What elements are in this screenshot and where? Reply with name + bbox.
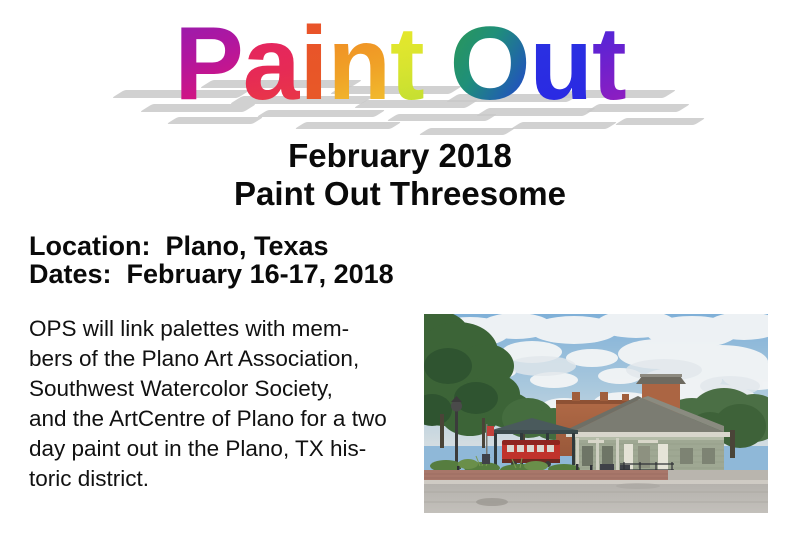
logo-letter-a: a: [243, 4, 300, 124]
body-line: Southwest Watercolor Society,: [29, 374, 411, 404]
logo-letter-P: P: [174, 4, 242, 124]
body-line: toric district.: [29, 464, 411, 494]
logo-letter-t2: t: [592, 4, 626, 124]
historic-district-photo: [424, 314, 768, 513]
logo-letter-O: O: [450, 4, 530, 124]
detail-dates: Dates: February 16-17, 2018: [29, 258, 394, 291]
logo-wordmark: PaintOut: [0, 4, 800, 124]
logo-letter-i: i: [300, 4, 328, 124]
headline-month: February 2018: [0, 136, 800, 175]
body-line: bers of the Plano Art Association,: [29, 344, 411, 374]
body-paragraph: OPS will link palettes with mem- bers of…: [29, 314, 411, 494]
body-line: day paint out in the Plano, TX his-: [29, 434, 411, 464]
logo-letter-u: u: [530, 4, 593, 124]
body-line: and the ArtCentre of Plano for a two: [29, 404, 411, 434]
headline-event-title: Paint Out Threesome: [0, 174, 800, 213]
paint-out-logo: PaintOut: [0, 4, 800, 134]
body-line: OPS will link palettes with mem-: [29, 314, 411, 344]
photo-artwork: [424, 314, 768, 513]
logo-letter-t1: t: [390, 4, 424, 124]
logo-letter-n: n: [327, 4, 390, 124]
flyer-page: PaintOut February 2018 Paint Out Threeso…: [0, 0, 800, 534]
